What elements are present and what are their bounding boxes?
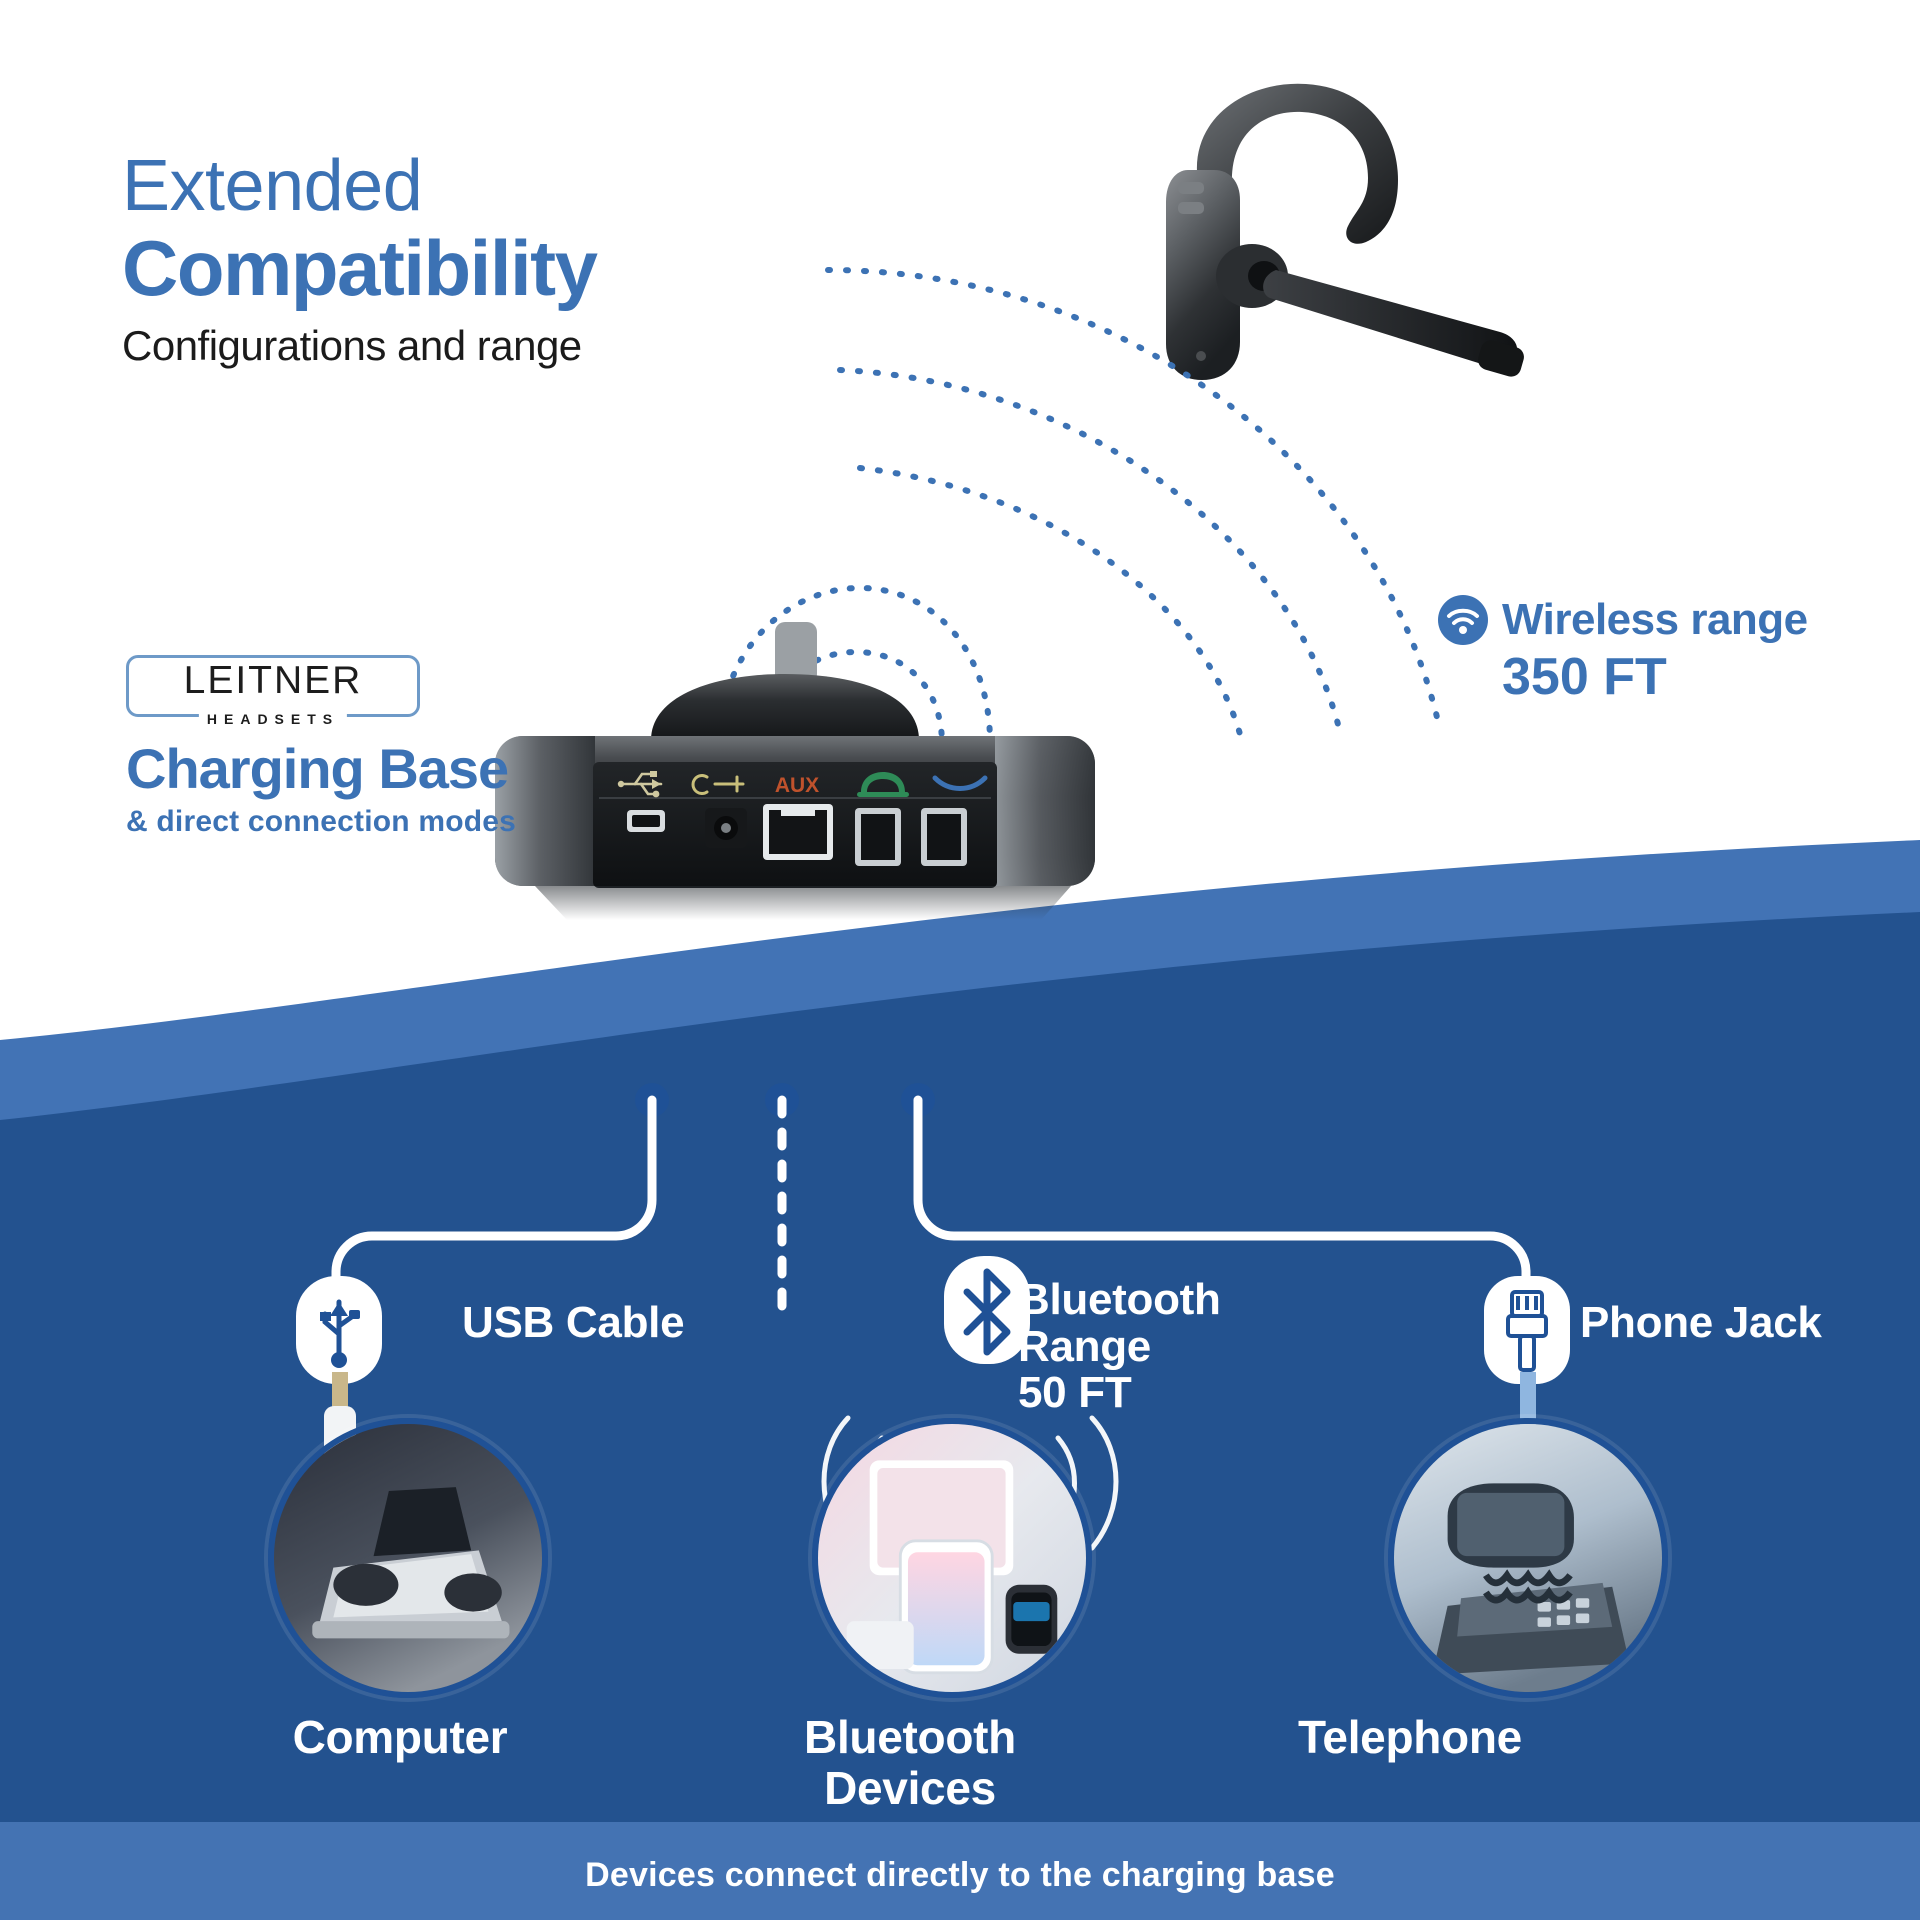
charging-base-title: Charging Base [126, 741, 516, 797]
device-label-telephone: Telephone [1130, 1712, 1690, 1763]
brand-block: LEITNER HEADSETS Charging Base & direct … [126, 655, 516, 839]
footer-text: Devices connect directly to the charging… [0, 1856, 1920, 1895]
headline-line2: Compatibility [122, 226, 597, 310]
wifi-icon [1438, 595, 1488, 645]
desk-phone-photo [1394, 1424, 1662, 1692]
leitner-logo-word: LEITNER [129, 661, 417, 700]
wireless-range-value: 350 FT [1502, 647, 1808, 707]
charging-base-subtitle: & direct connection modes [126, 805, 516, 839]
photo-bluetooth-devices [812, 1418, 1092, 1698]
bluetooth-range-text: Bluetooth Range [1018, 1277, 1348, 1370]
device-label-bluetooth-line1: Bluetooth [680, 1712, 1140, 1763]
device-label-bluetooth: Bluetooth Devices [680, 1712, 1140, 1813]
device-label-bluetooth-line2: Devices [680, 1763, 1140, 1814]
device-label-computer: Computer [120, 1712, 680, 1763]
laptop-photo [274, 1424, 542, 1692]
usb-cable-label: USB Cable [462, 1300, 684, 1347]
leitner-logo: LEITNER HEADSETS [126, 655, 420, 717]
wireless-range-callout: Wireless range 350 FT [1438, 595, 1808, 707]
headline-block: Extended Compatibility Configurations an… [122, 150, 597, 370]
photo-computer [268, 1418, 548, 1698]
phone-jack-label: Phone Jack [1580, 1300, 1822, 1347]
charging-base-image: AUX [475, 612, 1115, 932]
leitner-logo-sub: HEADSETS [199, 711, 347, 727]
photo-telephone [1388, 1418, 1668, 1698]
usb-connection-line [336, 1100, 652, 1310]
aux-port-label: AUX [775, 774, 819, 797]
devices-photo [818, 1424, 1086, 1692]
headline-line1: Extended [122, 150, 597, 222]
wireless-range-label: Wireless range [1502, 595, 1808, 645]
infographic-canvas: Extended Compatibility Configurations an… [0, 0, 1920, 1920]
headline-subtitle: Configurations and range [122, 322, 597, 370]
